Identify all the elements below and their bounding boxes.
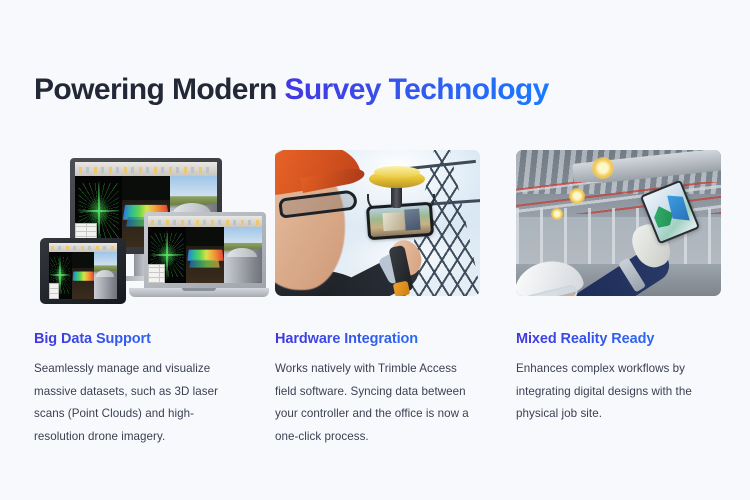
software-toolbar bbox=[75, 162, 217, 176]
feature-card: Big Data Support Seamlessly manage and v… bbox=[34, 150, 239, 448]
axis-icon bbox=[166, 230, 168, 280]
tablet-icon bbox=[40, 238, 126, 304]
surveyor-gnss-controller-photo bbox=[275, 150, 480, 296]
data-table-panel bbox=[49, 283, 59, 299]
page-root: Powering Modern Survey Technology bbox=[0, 0, 750, 500]
software-viewports bbox=[148, 227, 262, 283]
device-illustration bbox=[34, 150, 239, 296]
page-title-accent: Survey Technology bbox=[284, 73, 548, 106]
card-description: Enhances complex workflows by integratin… bbox=[516, 358, 716, 426]
laptop-trackpad-notch-icon bbox=[182, 288, 216, 291]
card-title: Big Data Support bbox=[34, 331, 239, 347]
tablet-screen bbox=[49, 243, 117, 299]
axis-icon bbox=[59, 255, 61, 296]
software-toolbar bbox=[148, 216, 262, 227]
feature-card: Hardware Integration Works natively with… bbox=[275, 150, 480, 448]
bridge-deck-heat-surface-secondary bbox=[189, 260, 219, 268]
laptop-icon bbox=[144, 212, 266, 290]
site-photo-viewport bbox=[94, 252, 117, 299]
page-title: Powering Modern Survey Technology bbox=[34, 72, 549, 108]
card-title: Hardware Integration bbox=[275, 331, 480, 347]
card-title: Mixed Reality Ready bbox=[516, 331, 721, 347]
photo-jobsite-scene bbox=[516, 150, 721, 296]
heatmap-background bbox=[122, 176, 169, 200]
gnss-antenna-top bbox=[374, 166, 420, 178]
bridge-deck-heat-surface bbox=[72, 271, 94, 281]
page-title-lead: Powering Modern bbox=[34, 73, 284, 106]
card-description: Seamlessly manage and visualize massive … bbox=[34, 358, 234, 448]
mixed-reality-tablet-jobsite-photo bbox=[516, 150, 721, 296]
pointcloud-3d-viewport bbox=[75, 176, 122, 247]
heatmap-viewport bbox=[72, 252, 95, 299]
site-photo-viewport bbox=[224, 227, 262, 283]
feature-card: Mixed Reality Ready Enhances complex wor… bbox=[516, 150, 721, 448]
work-light-icon bbox=[592, 157, 614, 179]
photo-surveyor-scene bbox=[275, 150, 480, 296]
pointcloud-3d-viewport bbox=[49, 252, 72, 299]
heatmap-background bbox=[186, 227, 224, 246]
card-description: Works natively with Trimble Access field… bbox=[275, 358, 475, 448]
pointcloud-3d-viewport bbox=[148, 227, 186, 283]
software-viewports bbox=[49, 252, 117, 299]
feature-card-grid: Big Data Support Seamlessly manage and v… bbox=[34, 150, 722, 448]
laptop-screen bbox=[148, 216, 262, 283]
controller-grip-base bbox=[393, 281, 411, 296]
controller-map-screen bbox=[369, 205, 431, 237]
heatmap-background bbox=[72, 252, 95, 268]
axis-icon bbox=[98, 180, 100, 243]
data-table-panel bbox=[148, 264, 165, 283]
device-mockup-point-cloud-software bbox=[34, 150, 239, 296]
heatmap-viewport bbox=[186, 227, 224, 283]
software-toolbar bbox=[49, 243, 117, 252]
